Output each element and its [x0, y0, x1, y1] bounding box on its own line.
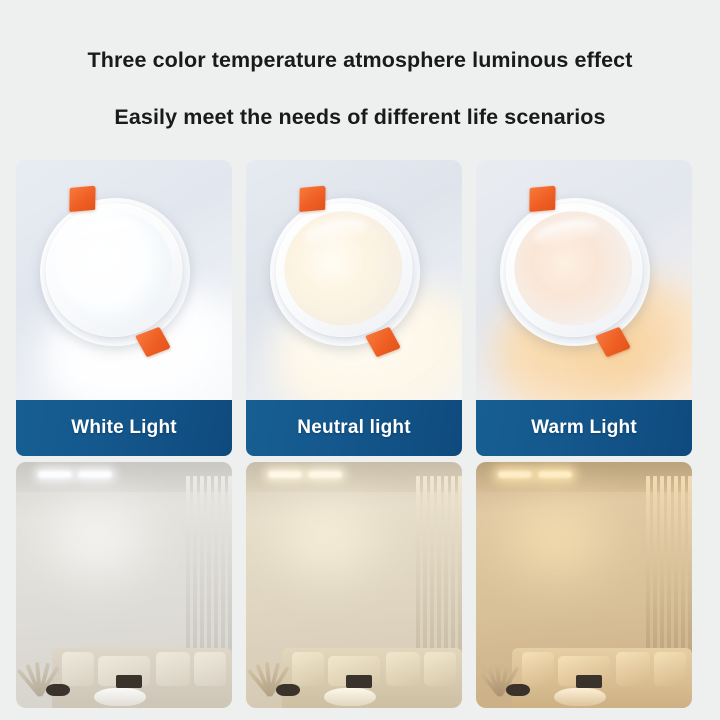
label-bar-white-light: White Light [16, 400, 232, 456]
wall-slat [416, 476, 420, 662]
sofa-cushion [654, 652, 686, 686]
stacked-books [116, 675, 142, 688]
diffuser-gloss [302, 215, 371, 250]
wall-slat [653, 476, 657, 662]
downlight-fixture [257, 185, 432, 359]
headings-block: Three color temperature atmosphere lumin… [0, 0, 720, 128]
pampas-plant [248, 634, 292, 696]
label-bar-warm-light: Warm Light [476, 400, 692, 456]
product-photo-white-light [16, 160, 232, 400]
headline-primary: Three color temperature atmosphere lumin… [0, 50, 720, 72]
headline-secondary: Easily meet the needs of different life … [0, 107, 720, 129]
wall-slat [430, 476, 434, 662]
downlight-fixture [27, 185, 202, 359]
label-text: Neutral light [297, 417, 410, 439]
mounting-clip-top-icon [529, 186, 555, 212]
color-temperature-grid: White Light [16, 160, 704, 708]
wall-slat [200, 476, 204, 662]
wall-slat-panel [628, 476, 692, 662]
column-white-light: White Light [16, 160, 232, 708]
sofa-cushion [194, 652, 226, 686]
mounting-clip-top-icon [299, 186, 325, 212]
wall-slat [228, 476, 232, 662]
column-neutral-light: Neutral light [246, 160, 462, 708]
wall-slat [667, 476, 671, 662]
downlight-fixture [487, 185, 662, 359]
label-text: Warm Light [531, 417, 637, 439]
wall-slat-panel [168, 476, 232, 662]
ceiling-spotlight-icon [78, 471, 112, 478]
wall-slat [423, 476, 427, 662]
ceiling-spotlight-icon [538, 471, 572, 478]
wall-light-glow [22, 478, 172, 598]
product-photo-warm-light [476, 160, 692, 400]
decor-bowl [506, 684, 530, 696]
coffee-table [94, 688, 146, 706]
wall-slat [221, 476, 225, 662]
ceiling-spotlight-icon [498, 471, 532, 478]
decor-bowl [276, 684, 300, 696]
pampas-plant [478, 634, 522, 696]
ceiling-spotlight-icon [308, 471, 342, 478]
room-scene-neutral-light [246, 462, 462, 708]
pampas-plant [18, 634, 62, 696]
stacked-books [346, 675, 372, 688]
diffuser-gloss [532, 215, 601, 250]
wall-slat [458, 476, 462, 662]
product-photo-neutral-light [246, 160, 462, 400]
wall-slat [674, 476, 678, 662]
sofa-cushion [386, 652, 420, 686]
diffuser-gloss [72, 215, 141, 250]
sofa-cushion [62, 652, 94, 686]
wall-slat [451, 476, 455, 662]
wall-light-glow [252, 478, 402, 598]
sofa-cushion [522, 652, 554, 686]
wall-light-glow [482, 478, 632, 598]
label-bar-neutral-light: Neutral light [246, 400, 462, 456]
decor-bowl [46, 684, 70, 696]
ceiling-spotlight-icon [268, 471, 302, 478]
wall-slat-panel [398, 476, 462, 662]
wall-slat [186, 476, 190, 662]
sofa-cushion [616, 652, 650, 686]
stacked-books [576, 675, 602, 688]
ceiling-spotlight-icon [38, 471, 72, 478]
column-warm-light: Warm Light [476, 160, 692, 708]
label-text: White Light [71, 417, 177, 439]
wall-slat [646, 476, 650, 662]
sofa-cushion [292, 652, 324, 686]
wall-slat [681, 476, 685, 662]
coffee-table [554, 688, 606, 706]
wall-slat [437, 476, 441, 662]
room-scene-white-light [16, 462, 232, 708]
wall-slat [214, 476, 218, 662]
sofa-cushion [424, 652, 456, 686]
wall-slat [193, 476, 197, 662]
coffee-table [324, 688, 376, 706]
wall-slat [444, 476, 448, 662]
sofa-cushion [156, 652, 190, 686]
room-scene-warm-light [476, 462, 692, 708]
wall-slat [207, 476, 211, 662]
wall-slat [688, 476, 692, 662]
wall-slat [660, 476, 664, 662]
mounting-clip-top-icon [69, 186, 95, 212]
